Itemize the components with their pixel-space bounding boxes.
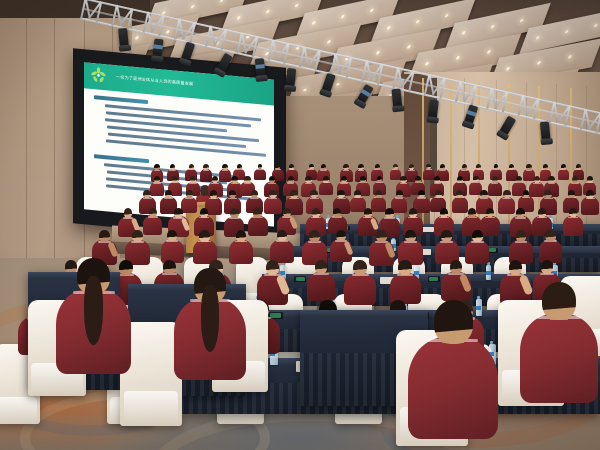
head bbox=[321, 164, 326, 170]
head bbox=[312, 208, 321, 218]
head bbox=[266, 260, 280, 275]
head bbox=[283, 208, 291, 217]
downlight bbox=[237, 16, 241, 19]
head bbox=[290, 190, 298, 199]
stage-light bbox=[391, 88, 402, 108]
downlight bbox=[568, 55, 572, 58]
head bbox=[172, 176, 178, 183]
stage-light bbox=[181, 42, 196, 63]
audience-member bbox=[581, 190, 599, 217]
stage-light bbox=[216, 53, 233, 74]
downlight bbox=[341, 15, 345, 18]
head bbox=[516, 230, 527, 242]
head bbox=[523, 190, 530, 198]
head bbox=[440, 164, 445, 170]
head bbox=[476, 164, 481, 170]
head bbox=[167, 230, 177, 241]
water-bottle bbox=[486, 265, 491, 279]
head bbox=[544, 190, 552, 198]
downlight bbox=[295, 4, 299, 7]
head bbox=[353, 260, 367, 275]
head bbox=[385, 208, 394, 218]
head bbox=[587, 176, 593, 183]
smartphone bbox=[428, 276, 440, 282]
downlight bbox=[220, 0, 224, 2]
downlight bbox=[461, 31, 465, 34]
downlight bbox=[370, 9, 374, 12]
head bbox=[494, 164, 499, 170]
downlight bbox=[506, 67, 510, 70]
audience-area bbox=[0, 150, 600, 450]
stage-light bbox=[152, 38, 163, 58]
head bbox=[305, 176, 311, 183]
head bbox=[435, 190, 442, 198]
polo-shirt bbox=[520, 314, 598, 402]
head bbox=[360, 176, 366, 183]
stage-light bbox=[428, 100, 439, 120]
audience-member bbox=[441, 260, 470, 303]
head bbox=[323, 176, 329, 183]
downlight bbox=[565, 30, 569, 33]
polo-shirt bbox=[581, 197, 599, 215]
stage-light bbox=[118, 28, 129, 48]
head bbox=[199, 230, 209, 242]
head bbox=[375, 164, 380, 170]
downlight bbox=[386, 26, 390, 29]
head bbox=[358, 164, 363, 170]
head bbox=[244, 176, 250, 183]
polo-shirt bbox=[344, 273, 376, 305]
head bbox=[543, 164, 548, 170]
head bbox=[364, 208, 373, 218]
head bbox=[236, 230, 246, 242]
head bbox=[576, 164, 581, 170]
head bbox=[132, 230, 143, 242]
head bbox=[165, 190, 172, 198]
head bbox=[400, 176, 406, 183]
head bbox=[333, 208, 341, 217]
head bbox=[393, 164, 398, 169]
head bbox=[354, 190, 361, 198]
smartphone bbox=[294, 276, 306, 282]
head bbox=[310, 190, 317, 198]
head bbox=[275, 164, 280, 170]
head bbox=[473, 176, 479, 182]
head bbox=[174, 208, 183, 218]
stage-light bbox=[285, 68, 296, 88]
head bbox=[189, 164, 194, 170]
head bbox=[336, 230, 346, 241]
downlight bbox=[191, 5, 195, 8]
downlight bbox=[594, 24, 598, 27]
head bbox=[480, 190, 487, 198]
downlight bbox=[456, 56, 460, 59]
foreground-audience-member bbox=[408, 300, 498, 446]
downlight bbox=[537, 61, 541, 64]
head bbox=[343, 164, 348, 170]
head bbox=[170, 164, 175, 170]
head bbox=[376, 230, 387, 242]
head bbox=[415, 176, 421, 183]
head bbox=[492, 176, 498, 183]
head bbox=[548, 176, 554, 183]
polo-shirt bbox=[307, 272, 336, 301]
head bbox=[230, 208, 239, 218]
head bbox=[154, 164, 160, 170]
head bbox=[154, 176, 160, 183]
head bbox=[457, 176, 463, 183]
head bbox=[405, 230, 416, 242]
downlight bbox=[266, 10, 270, 13]
head bbox=[396, 190, 403, 198]
polo-shirt bbox=[229, 240, 253, 264]
head bbox=[375, 190, 382, 198]
stage-light bbox=[255, 58, 266, 78]
audience-member bbox=[330, 230, 352, 263]
head bbox=[472, 230, 483, 242]
head bbox=[586, 190, 594, 199]
downlight bbox=[376, 51, 380, 54]
downlight bbox=[425, 62, 429, 65]
head bbox=[534, 176, 540, 183]
head bbox=[315, 260, 328, 274]
foreground-audience-member bbox=[174, 268, 246, 384]
audience-member bbox=[229, 230, 253, 266]
audience-member bbox=[344, 260, 376, 307]
head bbox=[542, 282, 576, 320]
stage-light bbox=[356, 84, 373, 105]
head bbox=[143, 190, 150, 198]
head bbox=[468, 208, 477, 218]
head bbox=[509, 164, 514, 170]
downlight bbox=[488, 50, 492, 53]
ponytail bbox=[84, 276, 104, 345]
downlight bbox=[490, 25, 494, 28]
downlight bbox=[407, 45, 411, 48]
head bbox=[277, 230, 287, 241]
head bbox=[222, 164, 227, 170]
head bbox=[99, 230, 110, 242]
head bbox=[568, 190, 575, 198]
head bbox=[541, 260, 553, 274]
head bbox=[337, 190, 344, 198]
head bbox=[418, 190, 425, 198]
stage-light bbox=[540, 121, 551, 141]
head bbox=[441, 230, 452, 242]
polo-shirt bbox=[408, 337, 498, 439]
head bbox=[269, 176, 275, 183]
head bbox=[398, 260, 411, 275]
audience-member bbox=[563, 208, 583, 237]
stage-light bbox=[499, 115, 516, 136]
foreground-audience-member bbox=[520, 282, 598, 408]
handout-paper bbox=[421, 227, 434, 233]
downlight bbox=[327, 40, 331, 43]
head bbox=[149, 208, 157, 217]
foreground-audience-member bbox=[56, 258, 131, 379]
downlight bbox=[445, 14, 449, 17]
downlight bbox=[536, 36, 540, 39]
head bbox=[190, 176, 196, 183]
head bbox=[309, 164, 314, 169]
head bbox=[516, 176, 522, 183]
head bbox=[509, 260, 523, 275]
head bbox=[572, 176, 578, 183]
head bbox=[210, 190, 218, 199]
head bbox=[124, 208, 133, 218]
head bbox=[561, 164, 566, 170]
head bbox=[251, 190, 258, 198]
head bbox=[289, 164, 294, 170]
head bbox=[538, 208, 547, 218]
head bbox=[269, 190, 276, 198]
head bbox=[309, 230, 320, 242]
head bbox=[526, 164, 531, 170]
head bbox=[462, 164, 467, 170]
downlight bbox=[311, 21, 315, 24]
head bbox=[456, 190, 463, 198]
head bbox=[434, 300, 473, 344]
head bbox=[253, 208, 262, 218]
polo-shirt bbox=[563, 216, 583, 236]
stage-light bbox=[321, 73, 336, 94]
head bbox=[200, 208, 209, 218]
downlight bbox=[415, 20, 419, 23]
stage-light bbox=[464, 104, 479, 125]
audience-member bbox=[307, 260, 336, 303]
head bbox=[516, 208, 525, 218]
ponytail bbox=[201, 285, 220, 351]
head bbox=[203, 164, 209, 170]
head bbox=[237, 164, 242, 170]
head bbox=[341, 176, 347, 183]
head bbox=[450, 260, 463, 274]
downlight bbox=[519, 19, 523, 22]
head bbox=[440, 208, 449, 218]
head bbox=[409, 208, 418, 218]
head bbox=[186, 190, 193, 198]
head bbox=[503, 190, 510, 198]
head bbox=[545, 230, 555, 241]
conference-hall-photo: 一切为了亚洲全体从业人员的高质量发展 bbox=[0, 0, 600, 450]
head bbox=[288, 176, 294, 183]
